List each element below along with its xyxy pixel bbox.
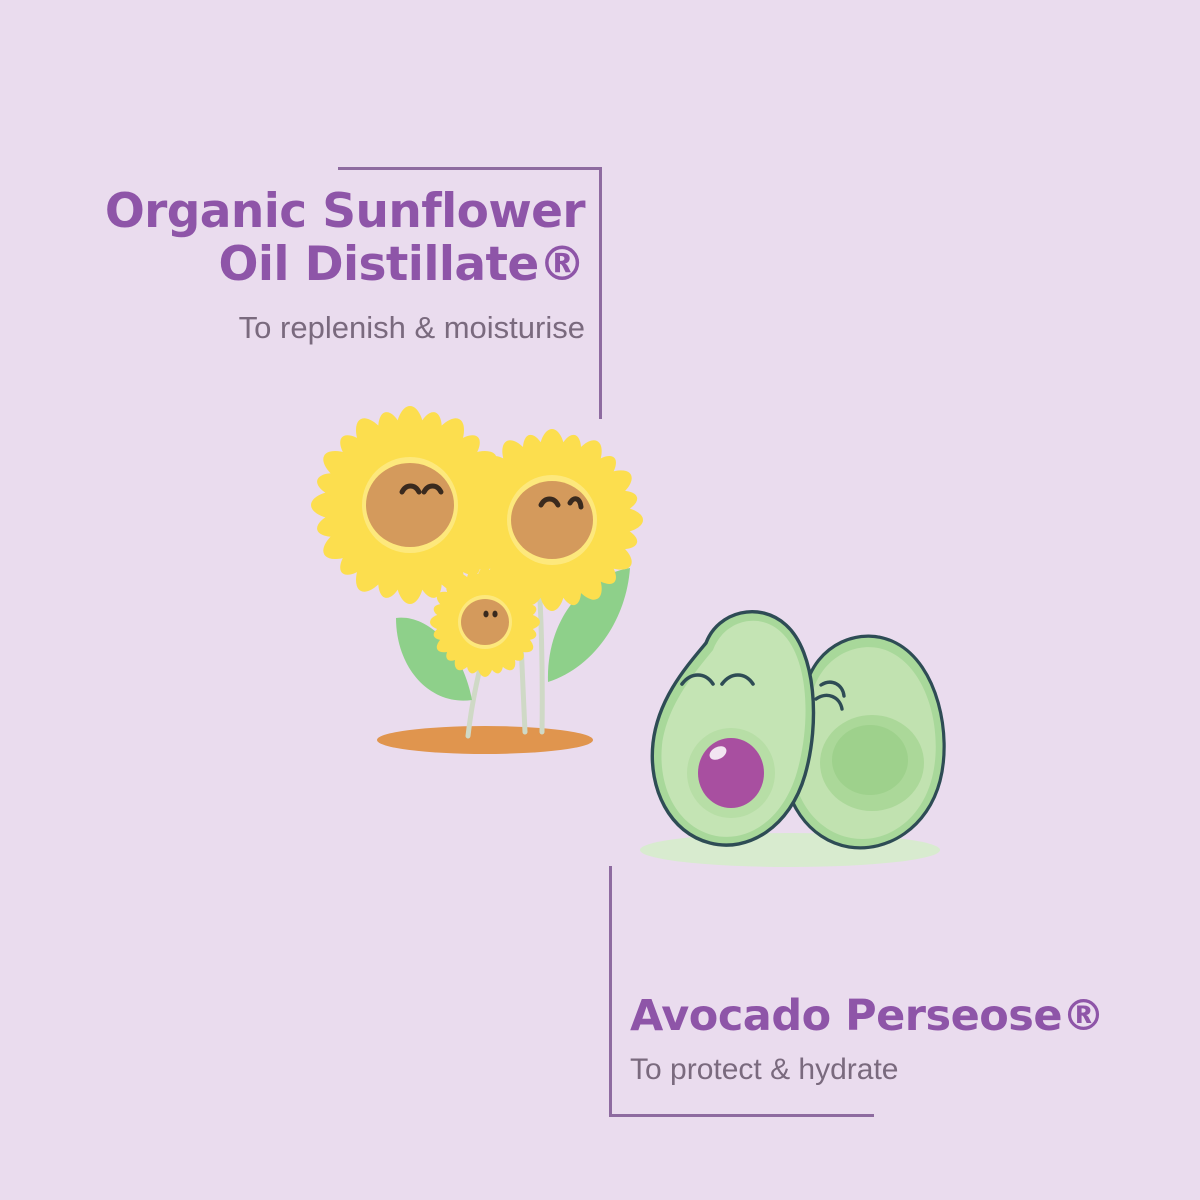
bottom-headline: Avocado Perseose® [630,992,1160,1040]
poster-canvas: Organic Sunflower Oil Distillate® To rep… [0,0,1200,1200]
soil-ellipse [377,726,593,754]
avocado-left [652,612,813,845]
bottom-subline: To protect & hydrate [630,1040,1160,1088]
flower-center [366,463,454,547]
avocado-illustration [600,595,990,885]
avocado-right-pit-inner [832,725,908,795]
flower-center [461,599,509,645]
top-headline: Organic Sunflower Oil Distillate® [40,186,585,291]
bottom-text-block: Avocado Perseose® To protect & hydrate [560,992,1160,1088]
top-subline: To replenish & moisturise [40,291,585,346]
bracket-top-horizontal-line [338,167,602,170]
top-text-block: Organic Sunflower Oil Distillate® To rep… [40,186,585,346]
avocado-left-pit [698,738,764,808]
bracket-top-vertical-line [599,167,602,419]
flower-center [511,481,593,559]
bracket-bottom-horizontal-line [609,1114,874,1117]
